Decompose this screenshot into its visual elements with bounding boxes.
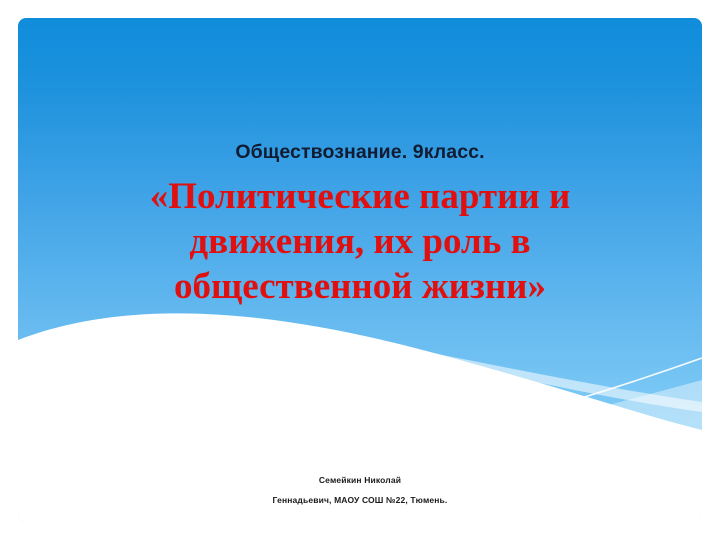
author-credit: Семейкин Николай Геннадьевич, МАОУ СОШ №… xyxy=(18,470,702,510)
title-line-2: движения, их роль в xyxy=(64,219,656,264)
subject-line: Обществознание. 9класс. xyxy=(18,141,702,164)
slide-text-content: Обществознание. 9класс. «Политические па… xyxy=(18,18,702,522)
title-line-3: общественной жизни» xyxy=(64,264,656,309)
presentation-slide: Обществознание. 9класс. «Политические па… xyxy=(0,0,720,540)
title-line-1: «Политические партии и xyxy=(64,174,656,219)
author-line-1: Семейкин Николай xyxy=(18,470,702,490)
slide-background-panel: Обществознание. 9класс. «Политические па… xyxy=(18,18,702,522)
author-line-2: Геннадьевич, МАОУ СОШ №22, Тюмень. xyxy=(18,490,702,510)
page-title: «Политические партии и движения, их роль… xyxy=(64,174,656,309)
